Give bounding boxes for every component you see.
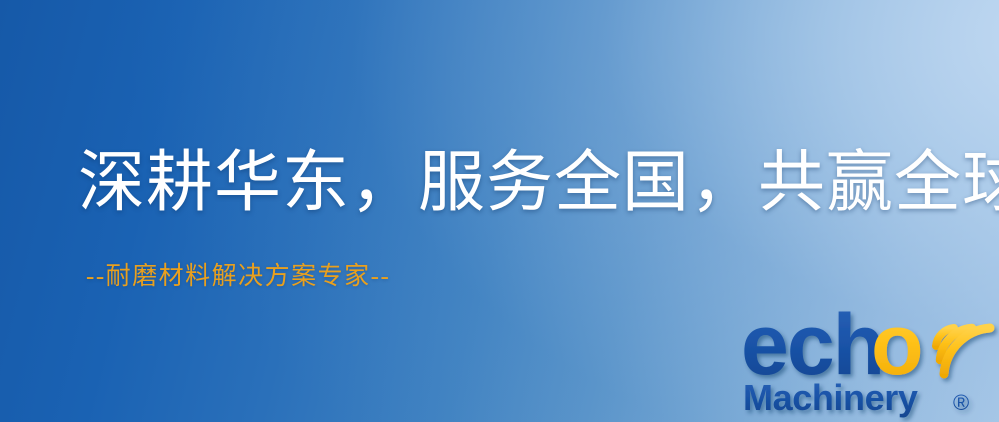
signal-waves-icon [936,328,990,374]
promo-banner: 深耕华东，服务全国，共赢全球 --耐磨材料解决方案专家-- [0,0,999,422]
logo-svg: ech o Machinery ® [741,290,993,420]
echo-machinery-logo[interactable]: ech o Machinery ® [741,290,993,420]
banner-subtitle: --耐磨材料解决方案专家-- [86,264,390,289]
banner-headline: 深耕华东，服务全国，共赢全球 [78,150,999,217]
registered-mark-icon: ® [953,390,969,415]
logo-tagline: Machinery [743,377,918,418]
